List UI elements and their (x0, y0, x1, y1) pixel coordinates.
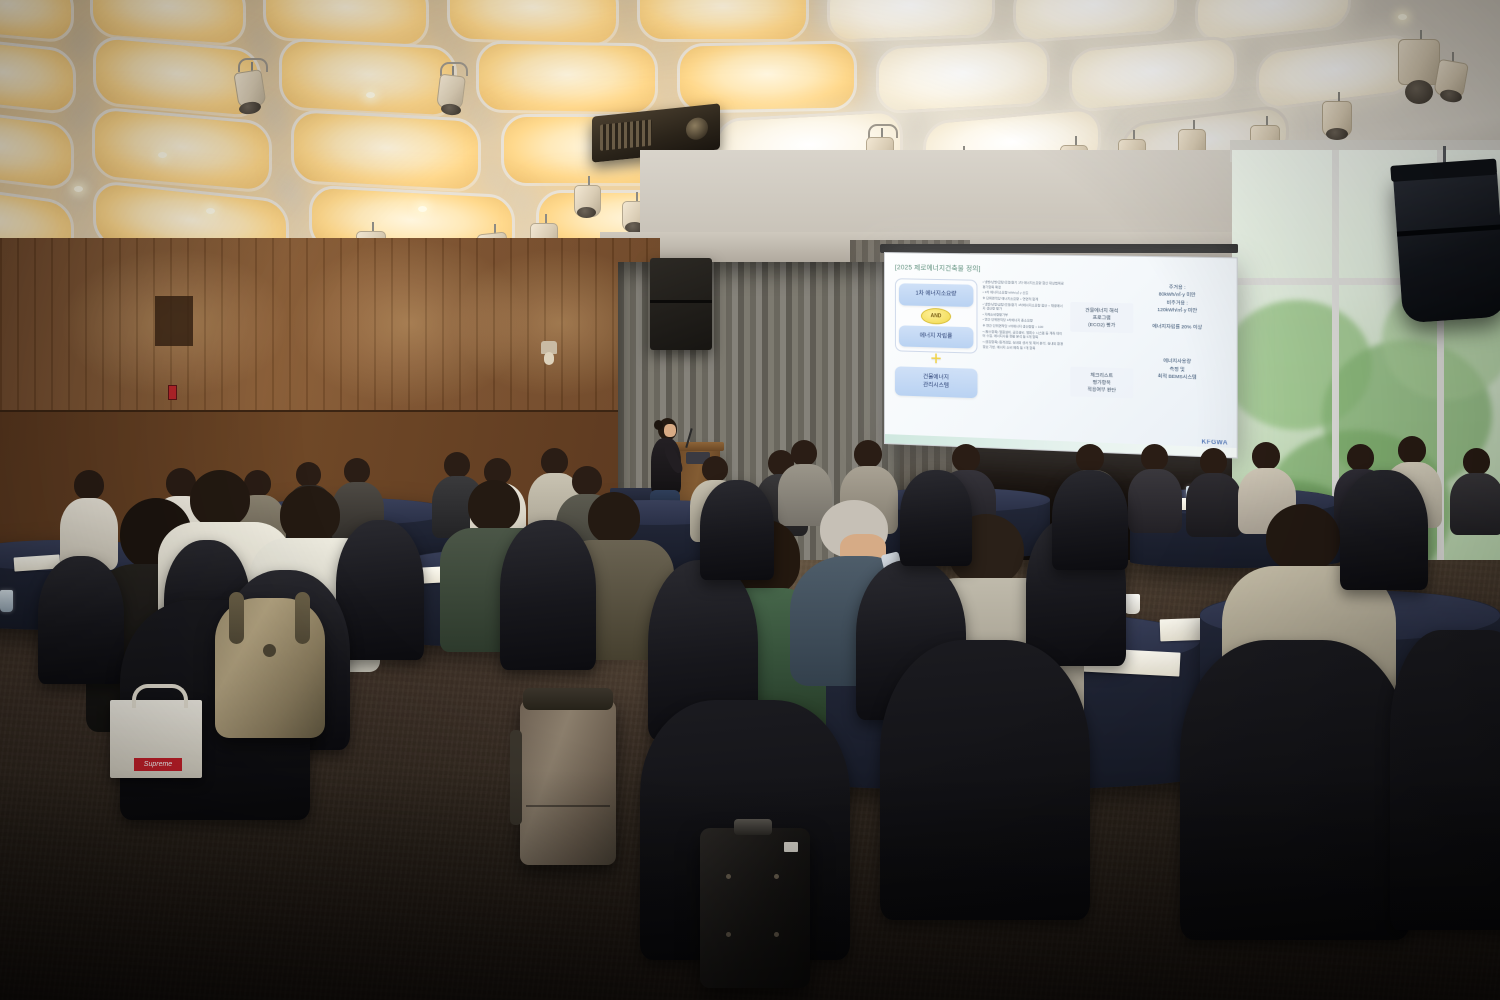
ceiling-panel (876, 37, 1050, 114)
stage-spotlight (574, 176, 604, 220)
slide-box-primary-energy: 1차 에너지소요량 (899, 283, 973, 306)
ceiling-panel (827, 0, 995, 43)
water-glass (0, 590, 13, 612)
luggage-tag (784, 842, 798, 852)
wall-speaker (650, 258, 712, 350)
slide-kpi-bems: 에너지사용량 측정 및 최적 BEMS시스템 (1139, 357, 1216, 382)
slide-col-eco2: 건물에너지 해석 프로그램 (ECO2) 평가 (1070, 302, 1133, 333)
ceiling-panel (92, 106, 272, 194)
slide-and-pill: AND (921, 307, 951, 324)
tote-handle (132, 684, 188, 708)
paper-cup (1124, 594, 1140, 614)
banquet-chair (500, 520, 596, 670)
downlight (366, 92, 375, 98)
slide-bullets: • 냉방/난방/급탕/조명/환기 1차 에너지소요량 합산 대상범위로 평가항목… (983, 280, 1065, 402)
ceiling-panel (0, 34, 76, 115)
slide-bullet-group-2: • 냉방/난방/급탕/조명/환기 1차에너지소요량 합산 ÷ 재생에너지 생산량… (983, 302, 1065, 331)
slide-bullet-group-1: • 냉방/난방/급탕/조명/환기 1차 에너지소요량 합산 대상범위로 평가항목… (983, 280, 1065, 303)
soft-luggage (520, 700, 616, 865)
fire-alarm-indicator (168, 385, 177, 400)
ceiling-panel (0, 0, 74, 44)
luggage-handle (734, 819, 772, 835)
stage-spotlight (438, 66, 468, 116)
banquet-chair (700, 480, 774, 580)
slide-middle-column: 건물에너지 해석 프로그램 (ECO2) 평가 체크리스트 평가항목 적용여부 … (1070, 281, 1133, 403)
downlight (418, 206, 427, 212)
slide-body: 1차 에너지소요량 AND 에너지 자립률 + 건물에너지 관리시스템 • 냉방… (895, 278, 1226, 407)
ceiling-panel (291, 109, 481, 193)
hanging-line-array-speaker (1393, 169, 1500, 324)
slide-bullet: • (권장항목) 원격검침, 실내외 센서 및 제어 분석, 실내외 환경 정보… (983, 340, 1065, 352)
slide-plus-icon: + (895, 352, 978, 367)
slide-bullet: • 냉방/난방/급탕/조명/환기 1차에너지소요량 합산 ÷ 재생에너지 생산량… (983, 302, 1065, 313)
banquet-chair (38, 556, 124, 684)
downlight (1398, 14, 1407, 20)
downlight (74, 186, 83, 192)
projector-lens (686, 117, 708, 141)
slide-content: [2025 제로에너지건축물 정의] 1차 에너지소요량 AND 에너지 자립률… (885, 253, 1237, 457)
downlight (158, 152, 167, 158)
ceiling-panel (476, 40, 658, 115)
slide-col-checklist: 체크리스트 평가항목 적용여부 판단 (1070, 367, 1133, 399)
stage-spotlight (1322, 92, 1356, 144)
seminar-room-photo: [2025 제로에너지건축물 정의] 1차 에너지소요량 AND 에너지 자립률… (0, 0, 1500, 1000)
projector-vent (600, 119, 652, 150)
downlight (206, 208, 215, 214)
slide-kpi-self-sufficiency: 에너지자립률 20% 이상 (1139, 322, 1216, 331)
ceiling-panel (637, 0, 809, 42)
banquet-chair-foreground (1390, 630, 1500, 930)
kfgwa-logo: KFGWA (1202, 439, 1228, 446)
wall-camera-icon (541, 341, 557, 354)
ceiling-panel (1013, 0, 1177, 44)
banquet-chair (1340, 470, 1428, 590)
ceiling-panel (447, 0, 619, 47)
banquet-chair (900, 470, 972, 566)
slide-title: [2025 제로에너지건축물 정의] (895, 261, 1226, 277)
ceiling-panel (0, 104, 74, 191)
attendee (1128, 444, 1180, 542)
banquet-chair (1052, 470, 1128, 570)
stage-spotlight (236, 62, 268, 114)
tote-bag: Supreme (110, 700, 202, 778)
banquet-chair-foreground (1180, 640, 1410, 940)
slide-outline-box: 1차 에너지소요량 AND 에너지 자립률 (895, 278, 978, 354)
backpack (215, 598, 325, 738)
hard-luggage (700, 828, 810, 988)
slide-right-column: 주거용 : 80kWh/㎡·y 미만 비주거용 : 120kWh/㎡·y 미만 … (1139, 283, 1216, 407)
slide-left-group: 1차 에너지소요량 AND 에너지 자립률 + 건물에너지 관리시스템 (895, 278, 978, 398)
tote-brand-label: Supreme (134, 758, 182, 771)
stage-spotlight (1436, 52, 1470, 108)
slide-box-bems: 건물에너지 관리시스템 (895, 366, 978, 398)
banquet-chair-foreground (880, 640, 1090, 920)
wall-access-panel (155, 296, 193, 346)
ceiling-panel (1069, 35, 1237, 114)
slide-kpi-primary-energy: 주거용 : 80kWh/㎡·y 미만 비주거용 : 120kWh/㎡·y 미만 (1139, 283, 1216, 315)
ceiling-panel (677, 40, 857, 113)
slide-bullet-group-3: • (필수항목) 열원설비, 공조설비, 열회수 시스템 등 계측 데이터 수집… (983, 329, 1065, 351)
ceiling-panel (279, 37, 457, 118)
projection-screen: [2025 제로에너지건축물 정의] 1차 에너지소요량 AND 에너지 자립률… (884, 252, 1238, 459)
attendee (1450, 448, 1500, 544)
slide-box-self-sufficiency: 에너지 자립률 (899, 325, 973, 349)
